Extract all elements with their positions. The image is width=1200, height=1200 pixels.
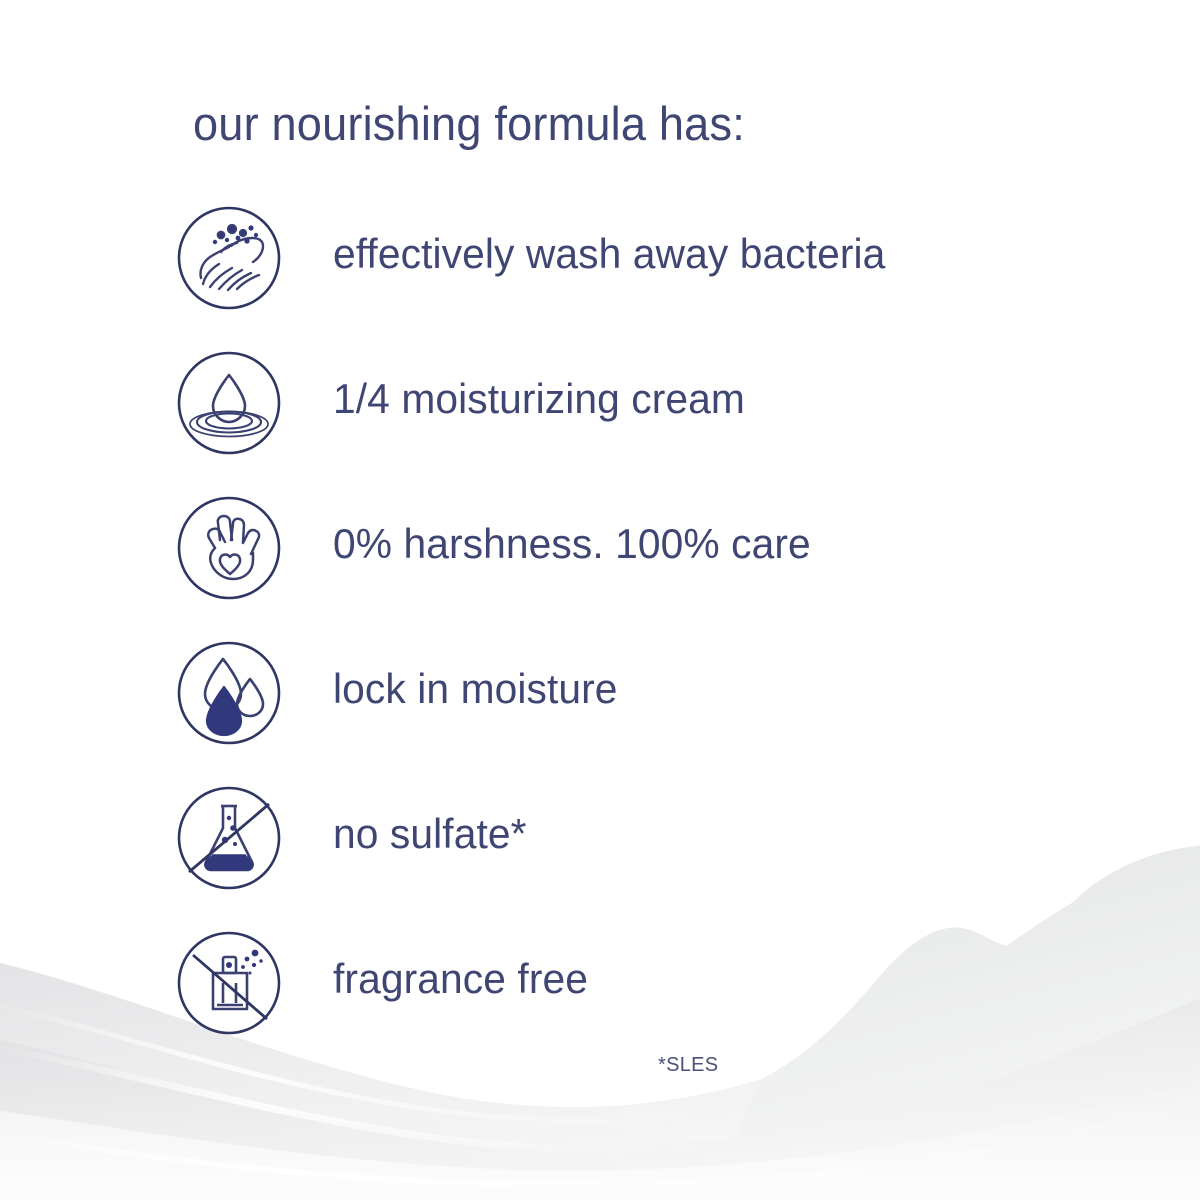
list-item: effectively wash away bacteria [0, 204, 1200, 349]
list-item: 1/4 moisturizing cream [0, 349, 1200, 494]
list-item-label: fragrance free [333, 955, 588, 1003]
list-item-label: no sulfate* [333, 810, 527, 858]
list-item-label: effectively wash away bacteria [333, 230, 885, 278]
list-item: no sulfate* [0, 784, 1200, 929]
three-droplets-icon [175, 639, 283, 747]
hand-with-heart-icon [175, 494, 283, 602]
product-benefits-panel: our nourishing formula has: [0, 0, 1200, 1200]
list-item: lock in moisture [0, 639, 1200, 784]
page-title: our nourishing formula has: [193, 96, 745, 151]
list-item-label: 1/4 moisturizing cream [333, 375, 745, 423]
footnote: *SLES [658, 1054, 718, 1077]
water-droplet-ripple-icon [175, 349, 283, 457]
benefits-list: effectively wash away bacteria 1/4 moist… [0, 204, 1200, 1074]
no-fragrance-bottle-icon [175, 929, 283, 1037]
list-item-label: lock in moisture [333, 665, 618, 713]
list-item: 0% harshness. 100% care [0, 494, 1200, 639]
list-item-label: 0% harshness. 100% care [333, 520, 811, 568]
washing-hands-icon [175, 204, 283, 312]
list-item: fragrance free [0, 929, 1200, 1074]
no-flask-icon [175, 784, 283, 892]
